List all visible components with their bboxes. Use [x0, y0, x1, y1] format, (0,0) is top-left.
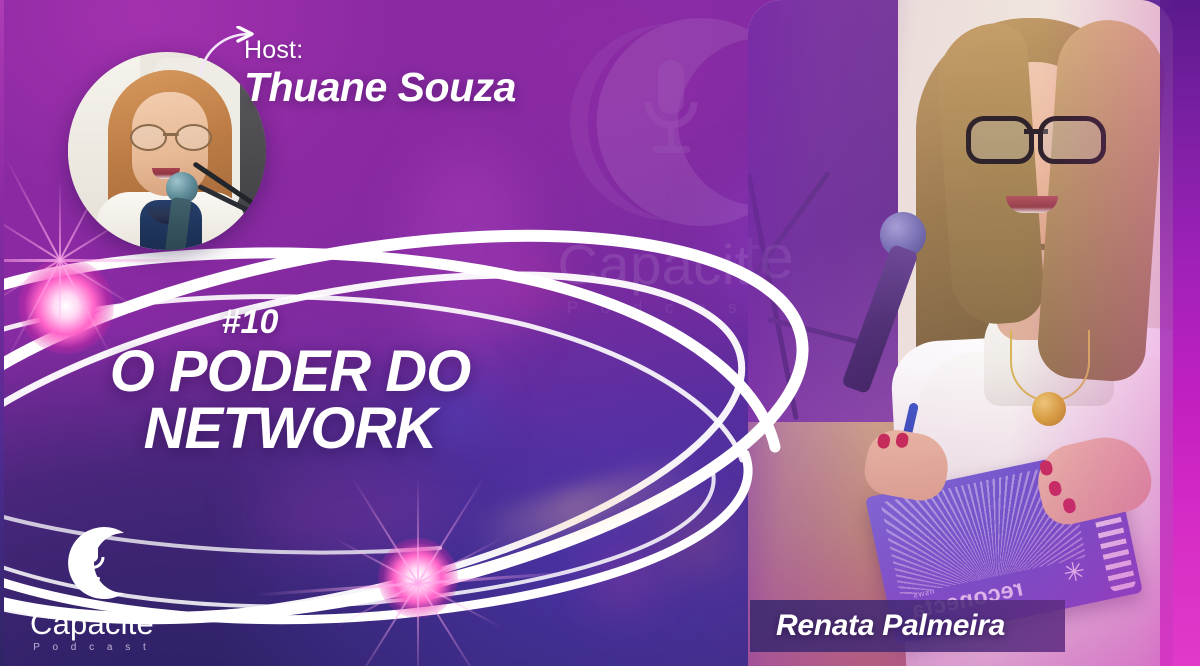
host-lens-left	[130, 124, 167, 151]
host-lens-right	[175, 124, 212, 151]
podcast-thumbnail: Capacite P o d c a s t	[0, 0, 1200, 672]
episode-number: #10	[0, 303, 500, 342]
logo-brand-subtitle: P o d c a s t	[24, 642, 160, 653]
host-avatar	[68, 52, 266, 250]
host-eyeglasses-icon	[130, 124, 212, 148]
guest-photo-color-cast	[748, 0, 1173, 672]
host-name: Thuane Souza	[244, 64, 516, 111]
guest-portrait-photo: nsws reconecta ✳ te	[748, 0, 1173, 672]
capacite-c-mark-icon	[50, 522, 134, 604]
logo-brand-name: Capacite	[24, 606, 160, 642]
bottom-white-strip	[0, 666, 1200, 672]
left-edge-strip	[0, 0, 4, 672]
guest-photo-panel: nsws reconecta ✳ te	[748, 0, 1173, 672]
episode-title: O PODER DO NETWORK	[0, 344, 580, 458]
guest-name-banner: Renata Palmeira	[750, 600, 1065, 652]
right-edge-bezel	[1173, 0, 1200, 672]
host-label: Host:	[244, 36, 303, 65]
guest-name: Renata Palmeira	[750, 609, 1005, 643]
capacite-podcast-logo: Capacite P o d c a s t	[24, 522, 160, 664]
